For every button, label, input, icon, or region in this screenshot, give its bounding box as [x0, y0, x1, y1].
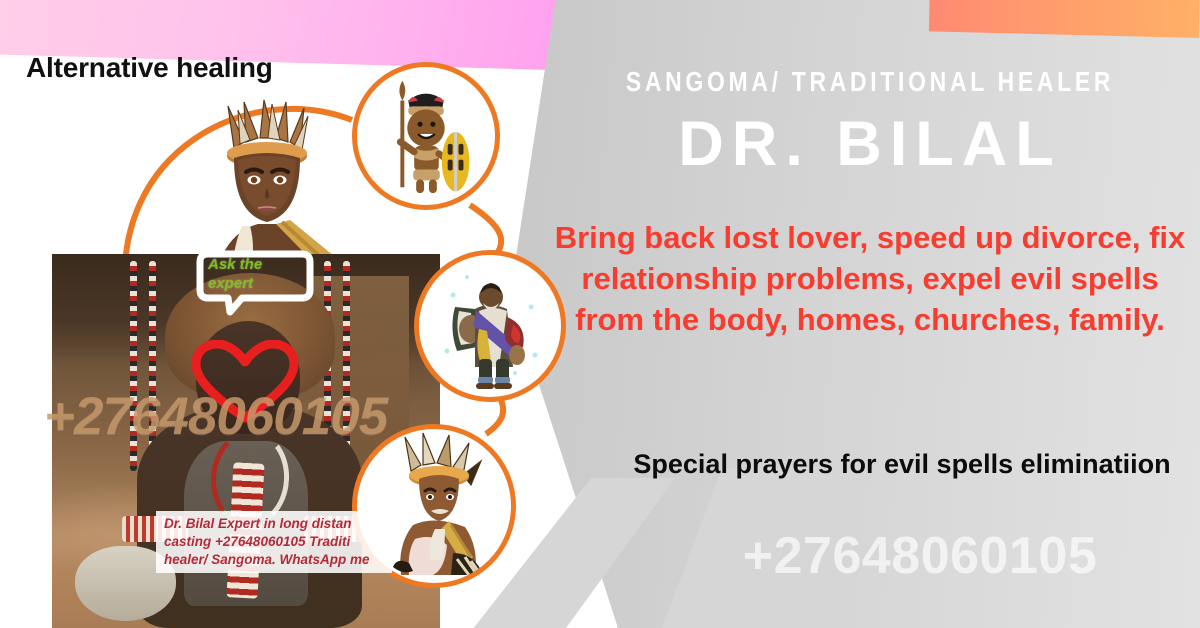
caption-line-3: healer/ Sangoma. WhatsApp me: [164, 551, 386, 569]
caption-line-1: Dr. Bilal Expert in long distan: [164, 515, 386, 533]
alternative-healing-heading: Alternative healing: [26, 52, 273, 84]
doctor-name-title: DR. BILAL: [560, 108, 1180, 180]
circle-badge-zulu-warrior: [352, 62, 500, 210]
phone-number-watermark: +27648060105: [640, 526, 1200, 586]
services-description: Bring back lost lover, speed up divorce,…: [552, 218, 1188, 341]
kicker-headline: SANGOMA/ TRADITIONAL HEALER: [616, 66, 1124, 98]
photo-phone-watermark: +27648060105: [44, 386, 387, 447]
poster-canvas: Alternative healing: [0, 0, 1200, 628]
zulu-warrior-icon: [357, 67, 495, 205]
caption-line-2: casting +27648060105 Traditi: [164, 533, 386, 551]
special-prayers-text: Special prayers for evil spells eliminat…: [614, 446, 1190, 482]
photo-caption-box: Dr. Bilal Expert in long distan casting …: [156, 511, 392, 573]
ask-the-expert-label: Ask the expert: [208, 256, 304, 294]
orange-band-shape: [929, 0, 1200, 38]
chief-illustration: [172, 96, 362, 271]
traveling-healer-icon: [419, 255, 561, 397]
circle-badge-traveling-healer: [414, 250, 566, 402]
